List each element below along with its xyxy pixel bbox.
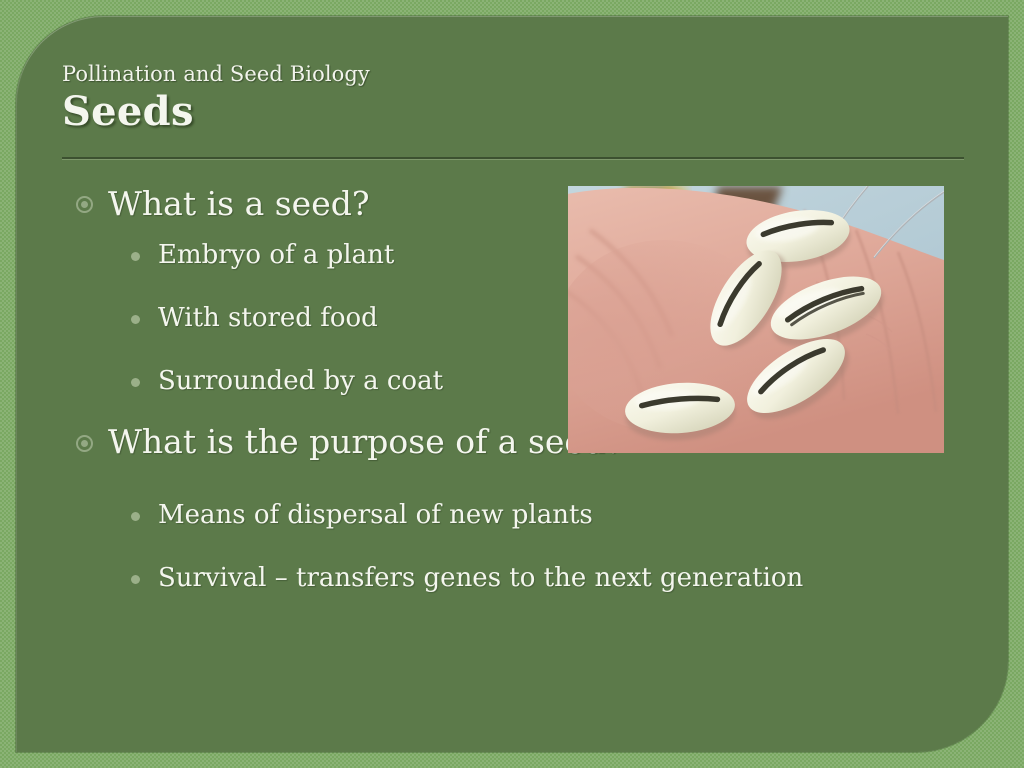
dot-bullet-icon [131,315,140,324]
bullet-level2-label: Embryo of a plant [158,240,394,270]
title-block: Pollination and Seed Biology Seeds [62,62,966,135]
bullet-level2-label: Means of dispersal of new plants [158,500,593,530]
ring-dot-bullet-icon [76,196,93,213]
bullet-level2-dispersal: Means of dispersal of new plants [62,501,962,530]
seed-photo-illustration [568,186,944,453]
spacer [62,461,962,501]
bullet-level2-label: Survival – transfers genes to the next g… [158,563,803,593]
dot-bullet-icon [131,252,140,261]
bullet-level1-label: What is the purpose of a seed? [108,422,623,461]
title-divider [62,157,964,159]
bullet-level2-label: With stored food [158,303,378,333]
seed-photo [568,186,944,453]
bullet-level1-label: What is a seed? [108,184,370,223]
ring-dot-bullet-icon [76,435,93,452]
bullet-level2-label: Surrounded by a coat [158,366,443,396]
bullet-level2-survival: Survival – transfers genes to the next g… [62,564,962,593]
spacer [62,530,962,564]
slide-content-panel: Pollination and Seed Biology Seeds What … [16,16,1008,752]
slide-eyebrow: Pollination and Seed Biology [62,62,966,86]
dot-bullet-icon [131,575,140,584]
dot-bullet-icon [131,512,140,521]
slide-canvas: Pollination and Seed Biology Seeds What … [0,0,1024,768]
dot-bullet-icon [131,378,140,387]
page-title: Seeds [62,88,966,135]
